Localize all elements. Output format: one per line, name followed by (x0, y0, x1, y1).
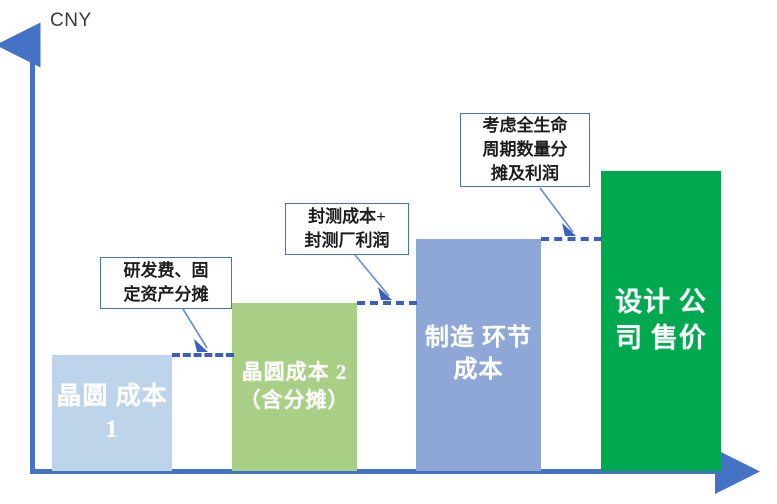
callout-text: 研发费、固 定资产分摊 (124, 259, 209, 307)
bar-label: 制造 环节 成本 (416, 323, 541, 386)
bar-label: 设计 公司 售价 (601, 285, 721, 356)
callout-text: 封测成本+ 封测厂利润 (305, 205, 390, 253)
bar-label: 晶圆成本 2 （含分摊） (232, 359, 357, 414)
bar-wafer-cost-1[interactable]: 晶圆 成本1 (52, 355, 172, 471)
bar-label: 晶圆 成本1 (52, 380, 172, 446)
callout-rnd-and-asset-amortization[interactable]: 研发费、固 定资产分摊 (100, 257, 232, 309)
waterfall-cost-chart: CNY 晶圆 成本1 晶圆成本 2 （含分摊） 制造 环节 成本 设计 公司 售… (0, 0, 777, 504)
y-axis-label: CNY (50, 10, 92, 32)
callout-lifecycle-volume-amortization-profit[interactable]: 考虑全生命 周期数量分 摊及利润 (460, 113, 590, 187)
callout-text: 考虑全生命 周期数量分 摊及利润 (483, 114, 568, 186)
connector-arrow-icon-1 (193, 338, 209, 354)
connector-arrow-icon-3 (561, 222, 577, 238)
connector-arrow-icon-2 (377, 286, 393, 302)
callout-packaging-test-cost-profit[interactable]: 封测成本+ 封测厂利润 (285, 203, 409, 255)
bar-manufacturing-cost[interactable]: 制造 环节 成本 (416, 239, 541, 471)
bar-design-company-price[interactable]: 设计 公司 售价 (601, 171, 721, 471)
bar-wafer-cost-2[interactable]: 晶圆成本 2 （含分摊） (232, 303, 357, 471)
